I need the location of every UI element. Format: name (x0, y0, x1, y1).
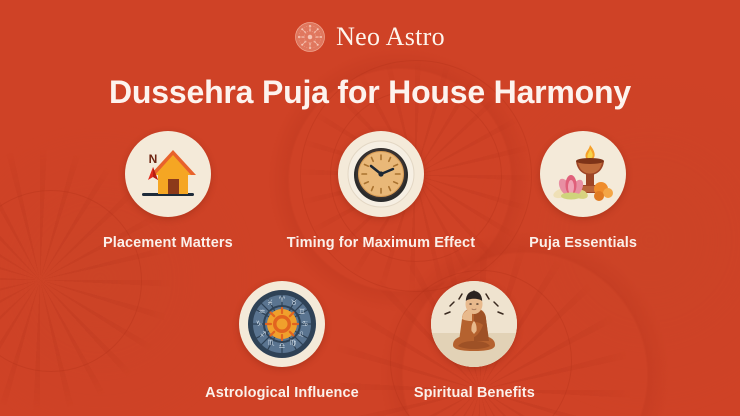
feature-label: Astrological Influence (205, 385, 359, 401)
zodiac-wheel-icon: ♈ ♉ ♊ ♋ ♌ ♍ ♎ ♏ ♐ ♑ ♒ ♓ (239, 281, 325, 367)
svg-text:♏: ♏ (268, 338, 275, 347)
svg-text:♒: ♒ (259, 307, 266, 316)
feature-label: Spiritual Benefits (414, 385, 535, 401)
clock-icon (338, 131, 424, 217)
svg-text:♍: ♍ (290, 338, 297, 347)
feature-card-astrological-influence[interactable]: ♈ ♉ ♊ ♋ ♌ ♍ ♎ ♏ ♐ ♑ ♒ ♓ (205, 281, 359, 401)
icon-disc: ♈ ♉ ♊ ♋ ♌ ♍ ♎ ♏ ♐ ♑ ♒ ♓ (239, 281, 325, 367)
feature-card-puja-essentials[interactable]: Puja Essentials (529, 131, 637, 251)
svg-text:♉: ♉ (291, 298, 298, 307)
feature-label: Timing for Maximum Effect (287, 235, 475, 251)
svg-text:♋: ♋ (302, 319, 309, 328)
svg-text:♎: ♎ (279, 341, 286, 350)
feature-card-spiritual-benefits[interactable]: Spiritual Benefits (414, 281, 535, 401)
svg-text:♈: ♈ (279, 295, 286, 304)
diya-lamp-lotus-icon (540, 131, 626, 217)
svg-text:♐: ♐ (260, 330, 267, 339)
feature-row-top: N Placement Matters (0, 131, 740, 251)
svg-text:N: N (149, 152, 158, 166)
svg-text:♌: ♌ (298, 330, 305, 339)
brand-logo: Neo Astro (0, 22, 740, 52)
feature-row-bottom: ♈ ♉ ♊ ♋ ♌ ♍ ♎ ♏ ♐ ♑ ♒ ♓ (0, 281, 740, 401)
feature-card-placement-matters[interactable]: N Placement Matters (103, 131, 233, 251)
svg-text:♊: ♊ (299, 307, 306, 316)
house-compass-icon: N (125, 131, 211, 217)
mandala-icon (295, 22, 325, 52)
icon-disc (338, 131, 424, 217)
icon-disc (540, 131, 626, 217)
feature-label: Puja Essentials (529, 235, 637, 251)
meditating-monk-icon (431, 281, 517, 367)
feature-label: Placement Matters (103, 235, 233, 251)
svg-text:♑: ♑ (256, 319, 263, 328)
icon-disc (431, 281, 517, 367)
brand-name: Neo Astro (336, 22, 445, 52)
page-title: Dussehra Puja for House Harmony (0, 72, 740, 112)
svg-text:♓: ♓ (267, 298, 274, 307)
poster-canvas: Neo Astro Dussehra Puja for House Harmon… (0, 0, 740, 416)
icon-disc: N (125, 131, 211, 217)
feature-card-timing[interactable]: Timing for Maximum Effect (287, 131, 475, 251)
